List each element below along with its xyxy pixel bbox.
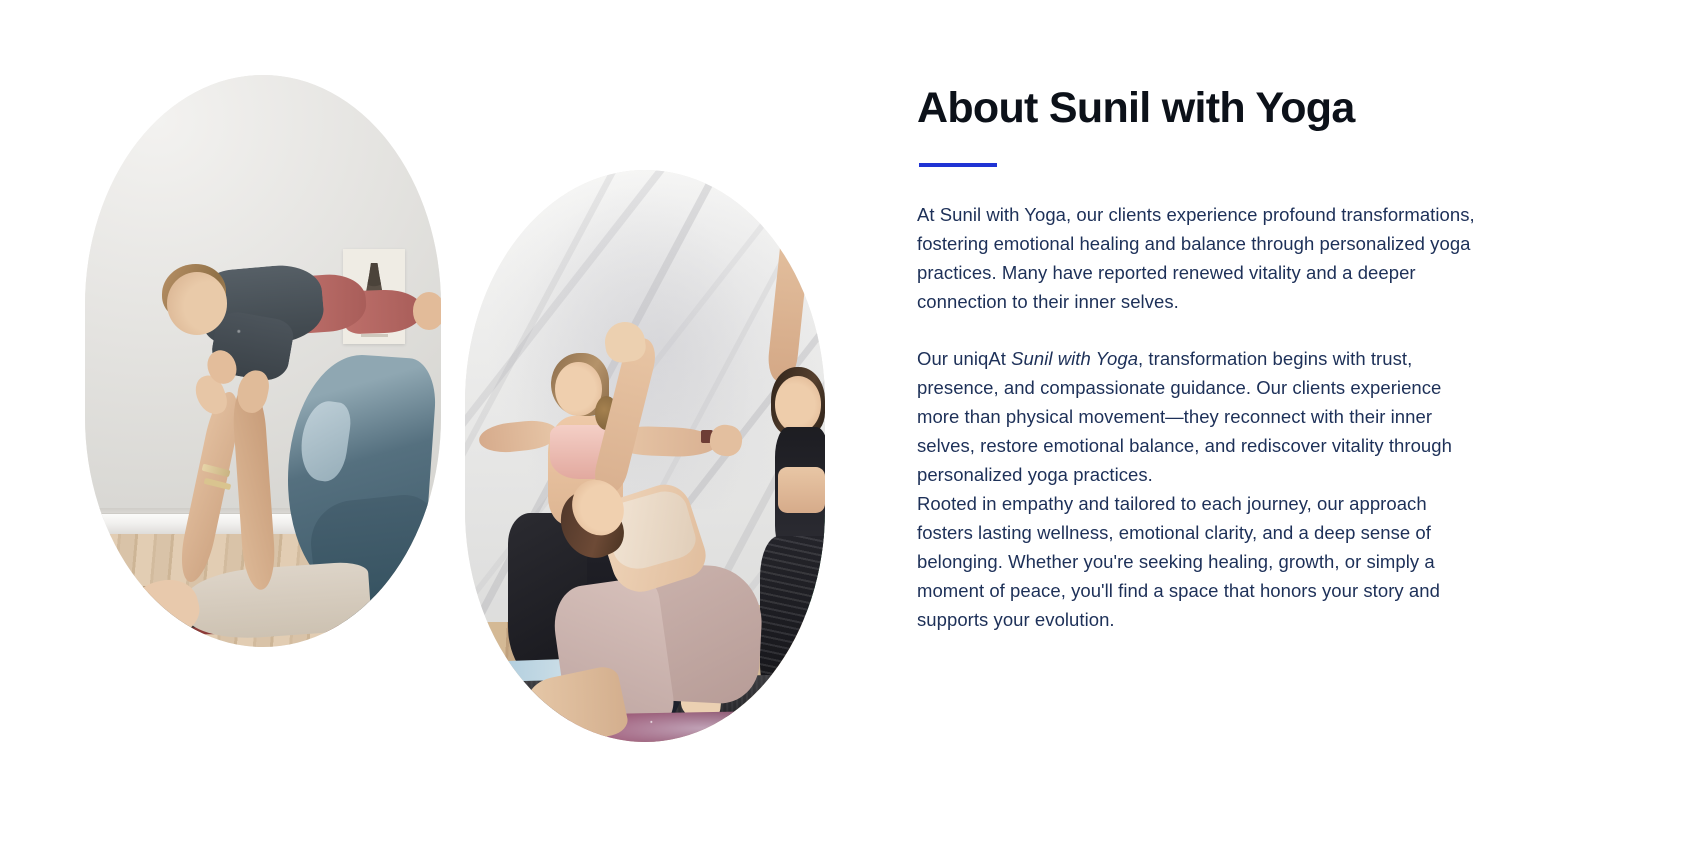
about-text-column: About Sunil with Yoga At Sunil with Yoga… (917, 0, 1517, 846)
child-far-hand (413, 292, 441, 329)
third-woman-hand (771, 193, 807, 227)
paragraph-intro: At Sunil with Yoga, our clients experien… (917, 200, 1477, 316)
image-group-triangle-pose-marble-studio (465, 170, 825, 742)
paragraph-lead-text: Our uniqAt (917, 348, 1011, 369)
about-body-copy: At Sunil with Yoga, our clients experien… (917, 200, 1477, 634)
page-title: About Sunil with Yoga (917, 84, 1355, 133)
paragraph-approach: Rooted in empathy and tailored to each j… (917, 489, 1477, 634)
paragraph-transformation: Our uniqAt Sunil with Yoga, transformati… (917, 344, 1477, 489)
brand-name-italic: Sunil with Yoga (1011, 348, 1138, 369)
image-collage (0, 0, 900, 846)
third-woman-head (775, 376, 822, 433)
accent-divider (919, 163, 997, 167)
about-section: About Sunil with Yoga At Sunil with Yoga… (0, 0, 1698, 846)
third-woman-midriff (778, 467, 825, 513)
image-mother-lifting-child-acro-yoga (85, 75, 441, 647)
photo-scene (85, 75, 441, 647)
